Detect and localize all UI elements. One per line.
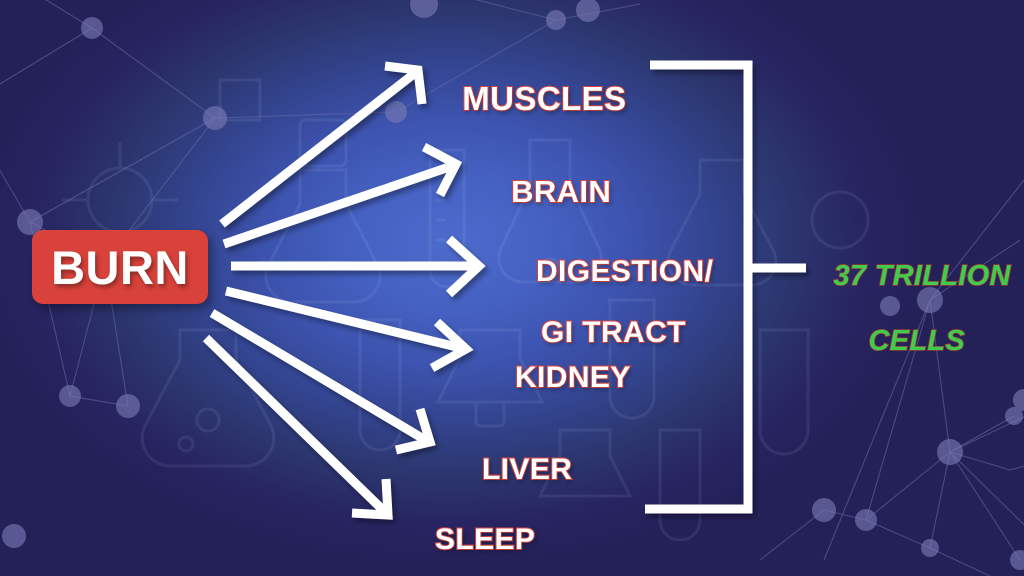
burn-source-node[interactable]: BURN [32,230,208,304]
slide-canvas: MUSCLES BRAIN DIGESTION/ GI TRACT KIDNEY… [0,0,1024,576]
label-sleep: SLEEP [400,494,535,576]
label-kidney: KIDNEY [480,332,631,424]
arrow-to-muscles [222,66,422,224]
arrow-to-digestion [231,239,479,294]
label-muscles: MUSCLES [424,48,626,149]
label-brain: BRAIN [475,144,611,239]
burn-label: BURN [51,244,189,291]
result-37-trillion-cells: 37 TRILLION CELLS [800,228,1000,390]
arrow-to-kidney [226,291,466,368]
